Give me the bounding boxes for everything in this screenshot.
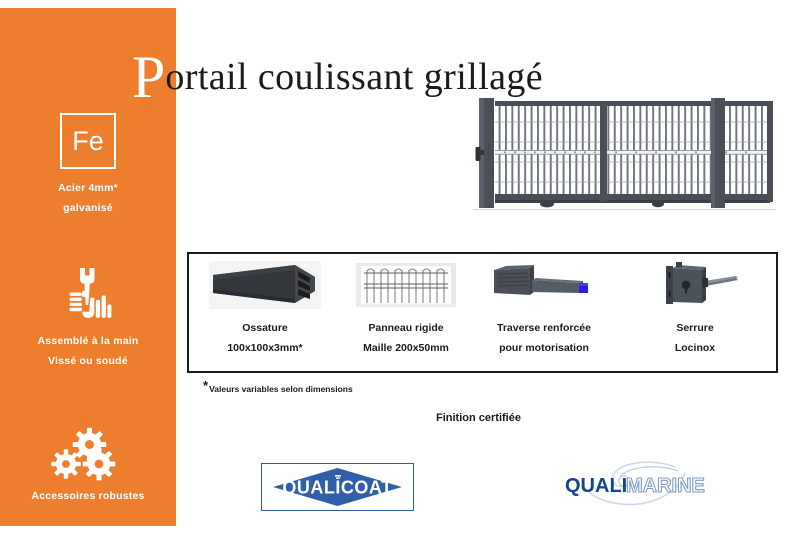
component-panneau-rigide: Panneau rigide Maille 200x50mm bbox=[332, 260, 480, 354]
reinforced-crossbeam-photo bbox=[470, 260, 618, 310]
qualimarine-logo-drawing: QUALI MARINE bbox=[557, 459, 709, 514]
mesh-panel-drawing bbox=[356, 263, 456, 307]
crossbeam-drawing bbox=[484, 262, 604, 308]
hand-holding-wrench-icon bbox=[56, 266, 120, 326]
sidebar-feature-steel-label-1: Acier 4mm* bbox=[0, 183, 176, 194]
qualicoat-logo: QUALICOAT bbox=[261, 463, 414, 511]
steel-frame-profile-photo bbox=[191, 260, 339, 310]
lock-photo bbox=[621, 260, 769, 310]
page-title: Portail coulissant grillagé bbox=[132, 47, 543, 109]
gears-icon bbox=[49, 426, 127, 482]
component-ossature-caption-2: 100x100x3mm* bbox=[191, 343, 339, 355]
sidebar-feature-handmade: Assemblé à la main Vissé ou soudé bbox=[0, 266, 176, 367]
page-title-dropcap: P bbox=[132, 44, 165, 110]
components-box: Ossature 100x100x3mm* bbox=[187, 252, 778, 373]
qualicoat-logo-drawing: QUALICOAT bbox=[262, 464, 413, 510]
component-panneau-caption-2: Maille 200x50mm bbox=[332, 343, 480, 355]
component-traverse-caption-1: Traverse renforcée bbox=[470, 323, 618, 335]
sidebar-feature-accessories-label-1: Accessoires robustes bbox=[0, 491, 176, 502]
footnote-text: Valeurs variables selon dimensions bbox=[209, 384, 353, 394]
component-panneau-caption-1: Panneau rigide bbox=[332, 323, 480, 335]
frame-profile-drawing bbox=[209, 261, 321, 309]
footnote: *Valeurs variables selon dimensions bbox=[203, 378, 353, 394]
sidebar-feature-handmade-label-1: Assemblé à la main bbox=[0, 336, 176, 347]
sidebar-feature-accessories: Accessoires robustes bbox=[0, 426, 176, 502]
poster-canvas: Fe Acier 4mm* galvanisé bbox=[0, 0, 800, 534]
component-traverse-renforcee: Traverse renforcée pour motorisation bbox=[470, 260, 618, 354]
fe-badge-text: Fe bbox=[72, 128, 104, 155]
footnote-asterisk: * bbox=[203, 378, 208, 393]
component-serrure: Serrure Locinox bbox=[621, 260, 769, 354]
qualimarine-wordmark-bold: QUALI bbox=[565, 475, 627, 497]
sidebar-feature-handmade-label-2: Vissé ou soudé bbox=[0, 356, 176, 367]
sidebar-feature-steel-label-2: galvanisé bbox=[0, 203, 176, 214]
qualicoat-wordmark: QUALICOAT bbox=[282, 478, 392, 498]
sidebar-feature-steel: Fe Acier 4mm* galvanisé bbox=[0, 113, 176, 214]
fe-element-badge-icon: Fe bbox=[60, 113, 116, 169]
component-ossature-caption-1: Ossature bbox=[191, 323, 339, 335]
page-title-rest: ortail coulissant grillagé bbox=[165, 56, 543, 98]
rigid-mesh-panel-photo bbox=[332, 260, 480, 310]
qualimarine-logo: QUALI MARINE bbox=[557, 459, 709, 514]
component-serrure-caption-1: Serrure bbox=[621, 323, 769, 335]
lock-drawing bbox=[640, 261, 750, 309]
qualimarine-wordmark-light: MARINE bbox=[626, 475, 705, 497]
component-serrure-caption-2: Locinox bbox=[621, 343, 769, 355]
component-ossature: Ossature 100x100x3mm* bbox=[191, 260, 339, 354]
finition-certifiee-label: Finition certifiée bbox=[436, 412, 521, 424]
component-traverse-caption-2: pour motorisation bbox=[470, 343, 618, 355]
